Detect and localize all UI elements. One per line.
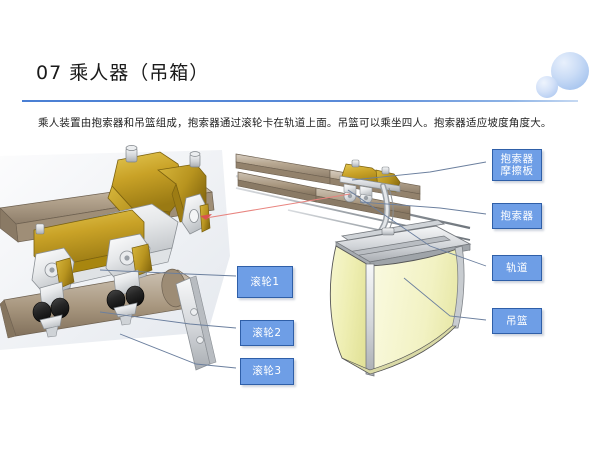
grip-roller-assembly-detail [0,145,230,370]
callout-rail[interactable]: 轨道 [492,255,542,281]
callout-grip-friction-plate-label-line2: 摩擦板 [501,165,534,177]
bolt-head [126,145,137,162]
page-title: 07 乘人器（吊箱） [36,58,209,85]
header-divider [22,100,578,102]
callout-cabin[interactable]: 吊篮 [492,308,542,334]
leader-roller-3 [120,334,236,368]
callout-roller-1[interactable]: 滚轮1 [237,266,293,298]
callout-grip-friction-plate-label-line1: 抱索器 [501,153,534,165]
callout-rail-label: 轨道 [506,262,528,275]
callout-grip-label: 抱索器 [501,210,534,223]
page-subtitle: 乘人装置由抱索器和吊篮组成，抱索器通过滚轮卡在轨道上面。吊篮可以乘坐四人。抱索器… [38,115,552,130]
callout-roller-3[interactable]: 滚轮3 [240,358,294,385]
callout-cabin-label: 吊篮 [506,315,528,328]
callout-roller-1-label: 滚轮1 [250,276,279,289]
callout-roller-3-label: 滚轮3 [252,365,281,378]
callout-roller-2-label: 滚轮2 [252,327,281,340]
slide-root: 07 乘人器（吊箱） 乘人装置由抱索器和吊篮组成，抱索器通过滚轮卡在轨道上面。吊… [0,0,600,450]
callout-grip[interactable]: 抱索器 [492,203,542,229]
small-blue-circle-icon [536,76,558,98]
grip-assembly-small [340,160,400,204]
bolt-head [190,152,200,167]
callout-roller-2[interactable]: 滚轮2 [240,320,294,346]
callout-grip-friction-plate[interactable]: 抱索器 摩擦板 [492,149,542,181]
